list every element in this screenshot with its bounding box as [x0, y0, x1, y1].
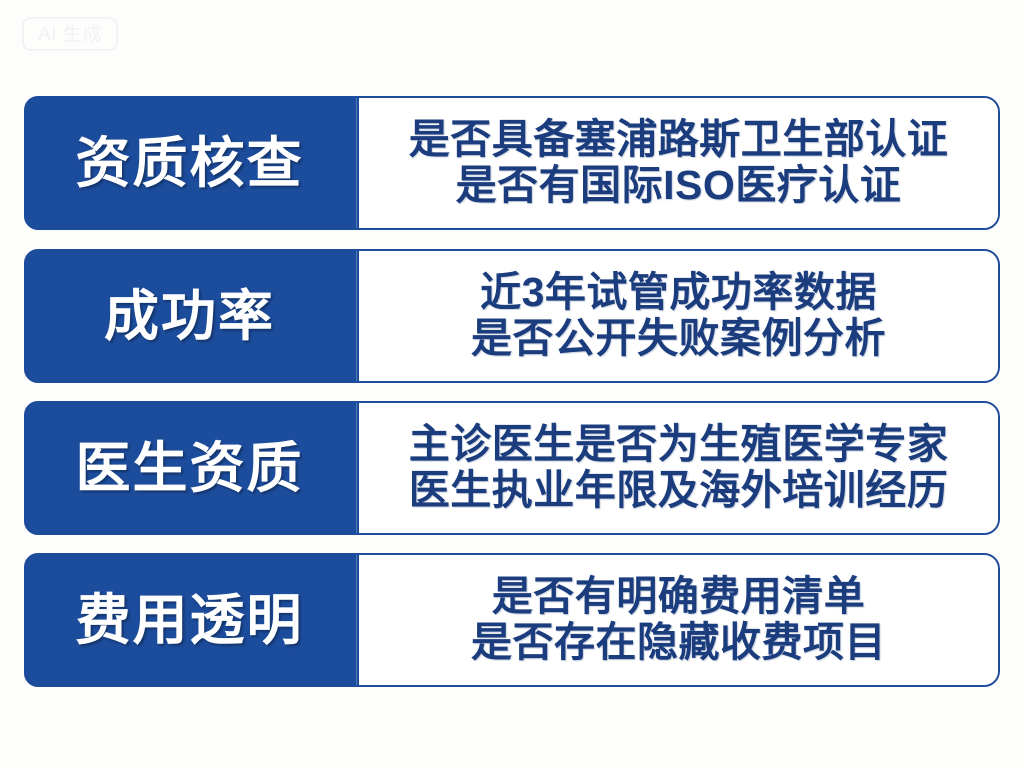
checklist-row: 费用透明 是否有明确费用清单 是否存在隐藏收费项目 [24, 553, 1000, 687]
row-content-panel: 近3年试管成功率数据 是否公开失败案例分析 [359, 251, 998, 381]
row-label-block: 医生资质 [24, 401, 359, 535]
row-content-panel: 主诊医生是否为生殖医学专家 医生执业年限及海外培训经历 [359, 403, 998, 533]
row-label-text: 费用透明 [75, 593, 307, 648]
row-content-line: 医生执业年限及海外培训经历 [409, 468, 949, 514]
row-label-text: 医生资质 [75, 441, 307, 496]
checklist-row: 医生资质 主诊医生是否为生殖医学专家 医生执业年限及海外培训经历 [24, 401, 1000, 535]
row-content-line: 主诊医生是否为生殖医学专家 [409, 422, 949, 468]
row-label-text: 成功率 [104, 289, 279, 344]
row-content-line: 是否有国际ISO医疗认证 [456, 163, 902, 209]
checklist-row: 成功率 近3年试管成功率数据 是否公开失败案例分析 [24, 249, 1000, 383]
row-content-panel: 是否具备塞浦路斯卫生部认证 是否有国际ISO医疗认证 [359, 98, 998, 228]
checklist-row: 资质核查 是否具备塞浦路斯卫生部认证 是否有国际ISO医疗认证 [24, 96, 1000, 230]
row-content-line: 近3年试管成功率数据 [480, 270, 877, 316]
checklist-rows-container: 资质核查 是否具备塞浦路斯卫生部认证 是否有国际ISO医疗认证 成功率 近3年试… [0, 0, 1024, 768]
row-label-block: 资质核查 [24, 96, 359, 230]
row-content-panel: 是否有明确费用清单 是否存在隐藏收费项目 [359, 555, 998, 685]
row-content-line: 是否存在隐藏收费项目 [471, 620, 886, 666]
row-content-line: 是否具备塞浦路斯卫生部认证 [409, 117, 949, 163]
row-content-line: 是否公开失败案例分析 [471, 316, 886, 362]
row-content-line: 是否有明确费用清单 [492, 574, 866, 620]
row-label-text: 资质核查 [75, 136, 307, 191]
row-label-block: 费用透明 [24, 553, 359, 687]
row-label-block: 成功率 [24, 249, 359, 383]
